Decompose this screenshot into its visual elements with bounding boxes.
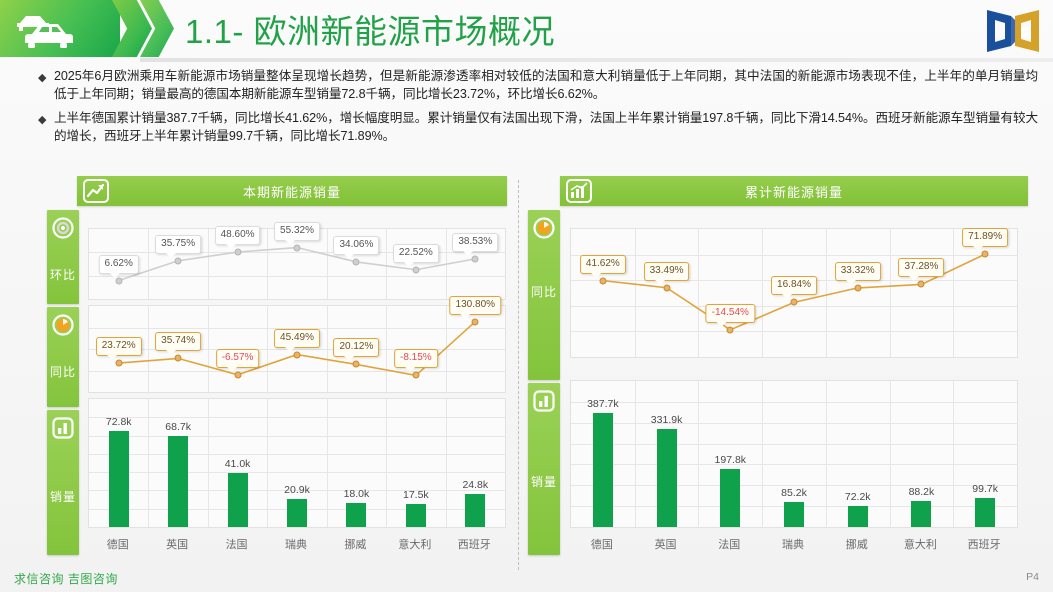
category-label: 法国 (226, 536, 248, 552)
tab-left-mom-label: 环比 (47, 268, 79, 282)
data-label-bubble: 48.60% (215, 226, 261, 245)
data-point (412, 372, 419, 379)
right-panel: 累计新能源销量 (528, 176, 1028, 206)
bullet-marker: ◆ (38, 68, 54, 103)
bar (287, 499, 307, 527)
bar-value-label: 18.0k (344, 488, 370, 500)
bar-value-label: 20.9k (284, 484, 310, 496)
data-label-bubble: 22.52% (393, 244, 439, 263)
tab-right-yoy[interactable]: 同比 (528, 210, 560, 380)
bar-value-label: 85.2k (781, 487, 807, 499)
bullet-item: ◆ 2025年6月欧洲乘用车新能源市场销量整体呈现增长趋势，但是新能源渗透率相对… (38, 68, 1038, 103)
gridline-vertical (890, 381, 891, 527)
data-point (353, 361, 360, 368)
bar (346, 503, 366, 527)
tab-left-yoy[interactable]: 同比 (47, 307, 79, 407)
gridline-horizontal (89, 436, 505, 437)
gridline-horizontal (571, 444, 1017, 445)
bar-value-label: 72.8k (106, 416, 132, 428)
data-label-bubble: 6.62% (99, 255, 139, 274)
data-point (115, 360, 122, 367)
bar (911, 501, 931, 527)
bar-value-label: 24.8k (462, 479, 488, 491)
bar (406, 504, 426, 527)
data-label-bubble: 33.49% (644, 262, 690, 281)
data-label-bubble: 55.32% (274, 222, 320, 241)
data-point (115, 277, 122, 284)
bar-chart-icon (533, 390, 555, 412)
left-panel-title: 本期新能源销量 (77, 182, 507, 201)
category-label: 德国 (591, 536, 613, 552)
chart-left-yoy: 23.72%35.74%-6.57%45.49%20.12%-8.15%130.… (88, 305, 506, 393)
data-point (599, 277, 606, 284)
bar (109, 431, 129, 527)
bar-value-label: 17.5k (403, 489, 429, 501)
tab-right-sales[interactable]: 销量 (528, 383, 560, 555)
data-point (175, 355, 182, 362)
category-label: 瑞典 (782, 536, 804, 552)
right-tab-rail: 同比 销量 (528, 210, 560, 558)
category-label: 西班牙 (968, 536, 1001, 552)
data-point (791, 299, 798, 306)
circle-orange-icon (52, 314, 74, 336)
gridline-vertical (762, 381, 763, 527)
slide-footer: 求信咨询 吉图咨询 P4 (0, 564, 1053, 592)
bar-value-label: 99.7k (972, 483, 998, 495)
bar (784, 502, 804, 527)
data-label-bubble: 20.12% (333, 338, 379, 357)
bar (593, 413, 613, 527)
data-label-bubble: 33.32% (835, 262, 881, 281)
gridline-vertical (826, 381, 827, 527)
category-label: 意大利 (904, 536, 937, 552)
bullet-marker: ◆ (38, 110, 54, 145)
data-label-bubble: 16.84% (771, 276, 817, 295)
series-line (89, 306, 505, 392)
data-label-bubble: 130.80% (450, 296, 501, 315)
category-label: 挪威 (344, 536, 366, 552)
data-label-bubble: 23.72% (96, 337, 142, 356)
header-green-block (0, 0, 120, 57)
data-label-bubble: 71.89% (962, 228, 1008, 247)
data-point (663, 284, 670, 291)
data-label-bubble: 41.62% (580, 255, 626, 274)
tab-left-yoy-label: 同比 (47, 365, 79, 379)
chart-right-yoy: 41.62%33.49%-14.54%16.84%33.32%37.28%71.… (570, 228, 1018, 358)
bullet-item: ◆ 上半年德国累计销量387.7千辆，同比增长41.62%，增长幅度明显。累计销… (38, 110, 1038, 145)
chart-left-sales: 72.8k68.7k41.0k20.9k18.0k17.5k24.8k (88, 398, 506, 528)
data-point (472, 318, 479, 325)
gridline-horizontal (571, 402, 1017, 403)
data-point (982, 251, 989, 258)
data-point (234, 249, 241, 256)
right-panel-header: 累计新能源销量 (560, 176, 1028, 206)
data-label-bubble: -14.54% (706, 304, 755, 323)
data-point (175, 257, 182, 264)
footer-brand: 求信咨询 吉图咨询 (14, 570, 118, 587)
bar-chart-icon (52, 417, 74, 439)
data-point (854, 284, 861, 291)
category-label: 挪威 (846, 536, 868, 552)
bullet-list: ◆ 2025年6月欧洲乘用车新能源市场销量整体呈现增长趋势，但是新能源渗透率相对… (38, 68, 1038, 152)
gridline-horizontal (571, 464, 1017, 465)
category-label: 英国 (166, 536, 188, 552)
data-label-bubble: 34.06% (333, 236, 379, 255)
data-point (234, 371, 241, 378)
bar (465, 494, 485, 527)
bar (848, 506, 868, 527)
gridline-vertical (953, 381, 954, 527)
bar (657, 429, 677, 527)
footer-page-number: P4 (1026, 571, 1039, 583)
tab-left-sales[interactable]: 销量 (47, 410, 79, 555)
data-point (294, 351, 301, 358)
right-panel-title: 累计新能源销量 (560, 182, 1028, 201)
bar-value-label: 331.9k (651, 414, 683, 426)
bar (720, 469, 740, 527)
left-tab-rail: 环比 同比 销量 (47, 210, 79, 558)
db-logo (981, 6, 1045, 56)
tab-left-sales-label: 销量 (47, 490, 79, 504)
tab-left-mom[interactable]: 环比 (47, 210, 79, 304)
tab-right-sales-label: 销量 (528, 475, 560, 489)
gridline-vertical (698, 381, 699, 527)
circle-target-icon (52, 217, 74, 239)
data-point (727, 326, 734, 333)
page-title: 1.1- 欧洲新能源市场概况 (185, 5, 555, 53)
gridline-vertical (635, 381, 636, 527)
category-label: 英国 (655, 536, 677, 552)
bar-value-label: 41.0k (225, 458, 251, 470)
data-label-bubble: 35.74% (155, 332, 201, 351)
bar-value-label: 197.8k (715, 454, 747, 466)
left-panel: 本期新能源销量 (47, 176, 507, 206)
gridline-horizontal (89, 454, 505, 455)
cars-icon (14, 10, 78, 48)
bar (228, 473, 248, 527)
bar (975, 498, 995, 527)
data-point (294, 244, 301, 251)
bar-value-label: 68.7k (165, 421, 191, 433)
gridline-horizontal (89, 472, 505, 473)
chart-left-mom: 6.62%35.75%48.60%55.32%34.06%22.52%38.53… (88, 228, 506, 300)
tab-right-yoy-label: 同比 (528, 285, 560, 299)
category-label: 法国 (718, 536, 740, 552)
slide-canvas: 1.1- 欧洲新能源市场概况 ◆ 2025年6月欧洲乘用车新能源市场销量整体呈现… (0, 0, 1053, 592)
data-point (412, 266, 419, 273)
bar-value-label: 72.2k (845, 491, 871, 503)
category-label: 西班牙 (458, 536, 491, 552)
data-point (918, 281, 925, 288)
slide-header: 1.1- 欧洲新能源市场概况 (0, 0, 1053, 62)
gridline-horizontal (571, 423, 1017, 424)
bar-value-label: 387.7k (587, 398, 619, 410)
category-label: 德国 (107, 536, 129, 552)
data-point (353, 258, 360, 265)
category-label: 瑞典 (285, 536, 307, 552)
bar-value-label: 88.2k (909, 486, 935, 498)
data-label-bubble: 37.28% (898, 258, 944, 277)
data-label-bubble: -8.15% (394, 349, 438, 368)
left-panel-header: 本期新能源销量 (77, 176, 507, 206)
data-label-bubble: 38.53% (452, 233, 498, 252)
data-point (472, 255, 479, 262)
data-label-bubble: -6.57% (216, 349, 260, 368)
data-label-bubble: 45.49% (274, 329, 320, 348)
category-label: 意大利 (398, 536, 431, 552)
data-label-bubble: 35.75% (155, 235, 201, 254)
bullet-text: 上半年德国累计销量387.7千辆，同比增长41.62%，增长幅度明显。累计销量仅… (54, 110, 1038, 145)
bar (168, 436, 188, 527)
gridline-horizontal (89, 417, 505, 418)
bullet-text: 2025年6月欧洲乘用车新能源市场销量整体呈现增长趋势，但是新能源渗透率相对较低… (54, 68, 1038, 103)
circle-orange-icon (533, 217, 555, 239)
header-rule (140, 58, 1053, 62)
chart-right-sales: 387.7k331.9k197.8k85.2k72.2k88.2k99.7k (570, 380, 1018, 528)
panel-divider (518, 180, 519, 570)
